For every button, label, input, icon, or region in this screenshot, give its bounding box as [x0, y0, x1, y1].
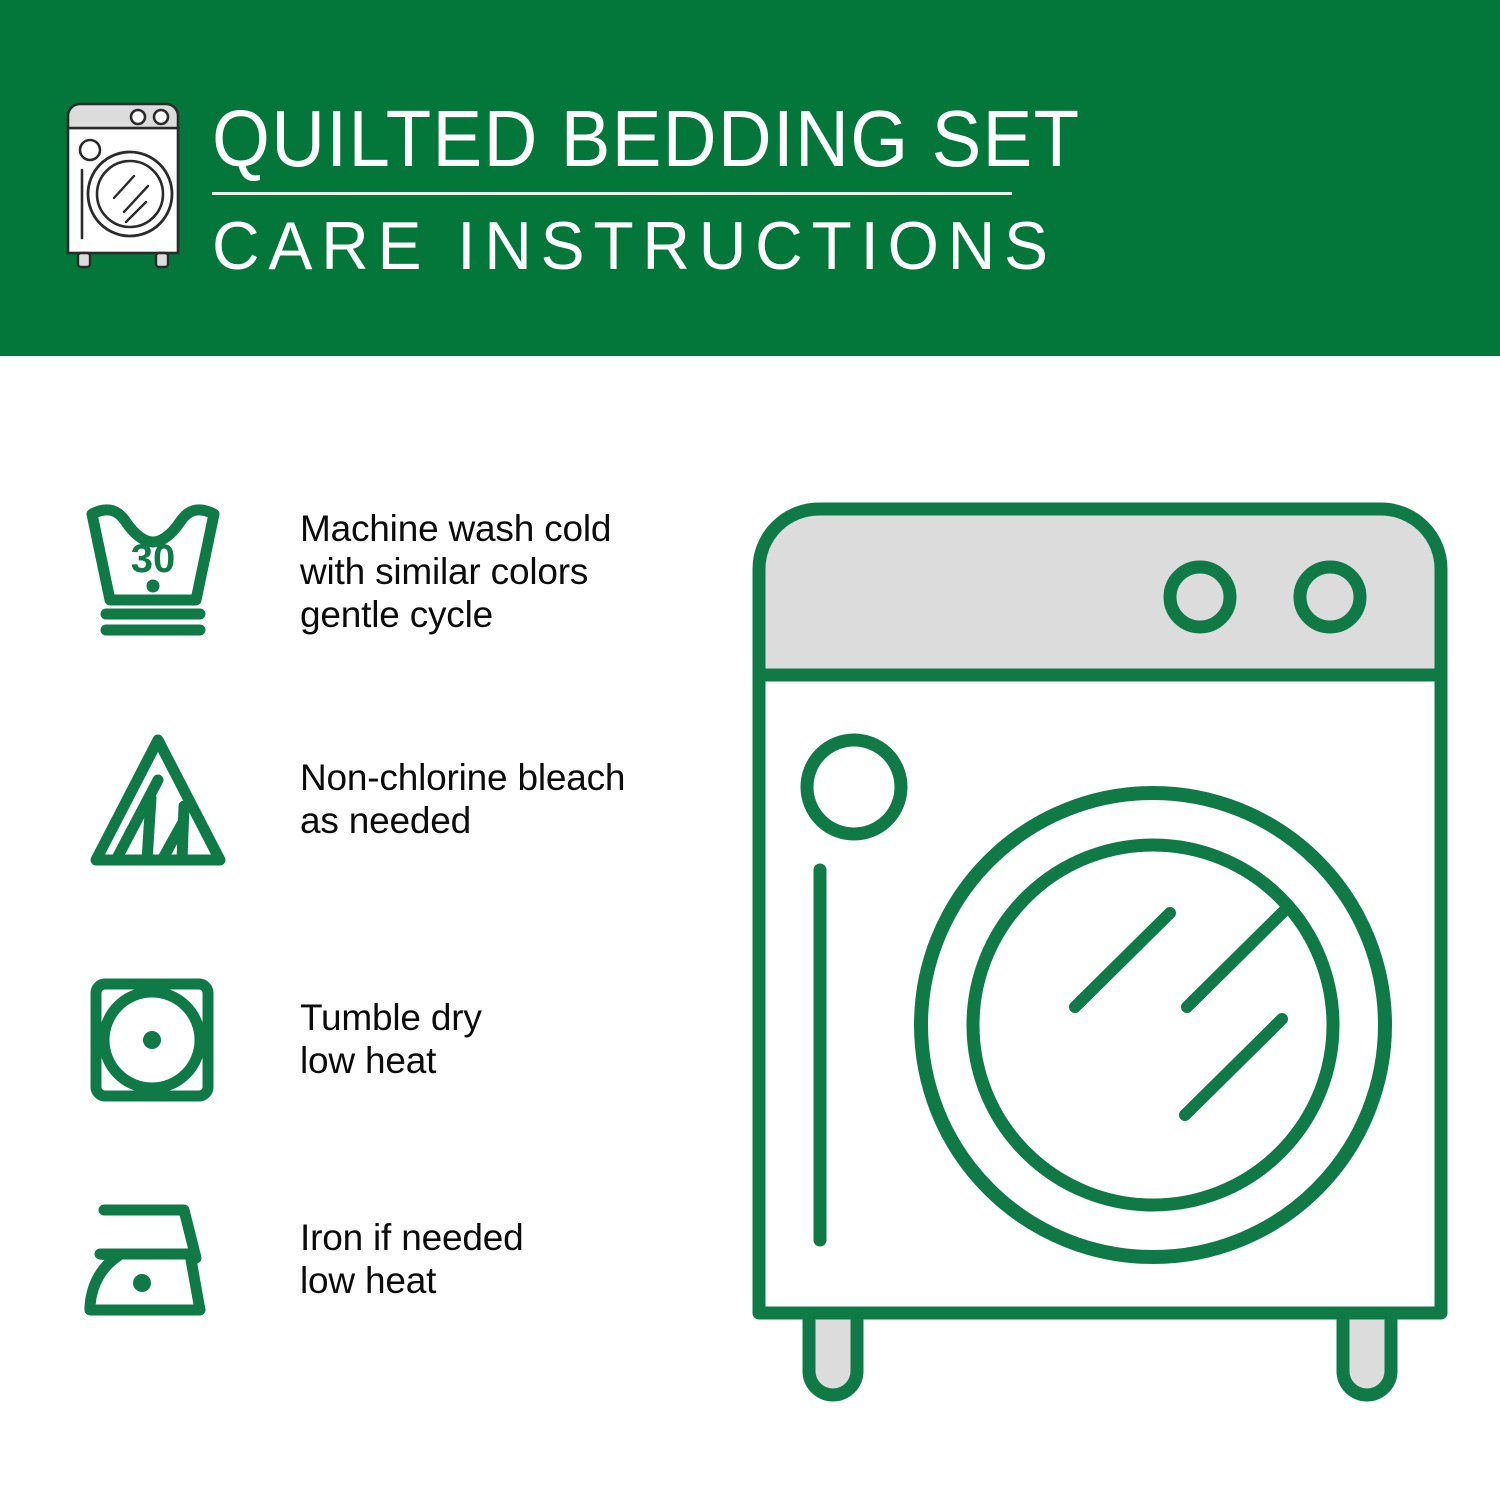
front-load-washing-machine-illustration — [745, 495, 1455, 1425]
non-chlorine-bleach-triangle-icon — [78, 724, 238, 874]
wash-tub-30-gentle-icon: 30 — [78, 496, 238, 646]
care-caption-bleach: Non-chlorine bleach as needed — [300, 756, 625, 842]
caption-line: low heat — [300, 1259, 523, 1302]
caption-line: as needed — [300, 799, 625, 842]
caption-line: Iron if needed — [300, 1216, 523, 1259]
care-row-bleach: Non-chlorine bleach as needed — [78, 724, 718, 874]
care-row-machine-wash: 30 Machine wash cold with similar colors… — [78, 496, 718, 646]
care-caption-machine-wash: Machine wash cold with similar colors ge… — [300, 507, 611, 636]
care-row-tumble-dry: Tumble dry low heat — [78, 964, 718, 1114]
care-caption-iron: Iron if needed low heat — [300, 1216, 523, 1302]
caption-line: low heat — [300, 1039, 482, 1082]
wash-temperature-label: 30 — [131, 537, 176, 581]
iron-low-heat-icon — [78, 1184, 238, 1334]
header-text-block: QUILTED BEDDING SET CARE INSTRUCTIONS — [212, 96, 1032, 283]
tumble-dry-low-heat-icon — [78, 964, 238, 1114]
care-caption-tumble-dry: Tumble dry low heat — [300, 996, 482, 1082]
washing-machine-logo-icon — [62, 98, 192, 270]
page-title: QUILTED BEDDING SET — [212, 96, 975, 182]
caption-line: gentle cycle — [300, 593, 611, 636]
machine-leg — [809, 1313, 1391, 1395]
header-divider — [212, 192, 1012, 195]
caption-line: Machine wash cold — [300, 507, 611, 550]
page-subtitle: CARE INSTRUCTIONS — [212, 209, 1007, 283]
care-instruction-list: 30 Machine wash cold with similar colors… — [0, 356, 740, 1500]
care-instructions-page: QUILTED BEDDING SET CARE INSTRUCTIONS — [0, 0, 1500, 1500]
caption-line: with similar colors — [300, 550, 611, 593]
caption-line: Non-chlorine bleach — [300, 756, 625, 799]
care-row-iron: Iron if needed low heat — [78, 1184, 718, 1334]
header-band: QUILTED BEDDING SET CARE INSTRUCTIONS — [0, 0, 1500, 356]
caption-line: Tumble dry — [300, 996, 482, 1039]
